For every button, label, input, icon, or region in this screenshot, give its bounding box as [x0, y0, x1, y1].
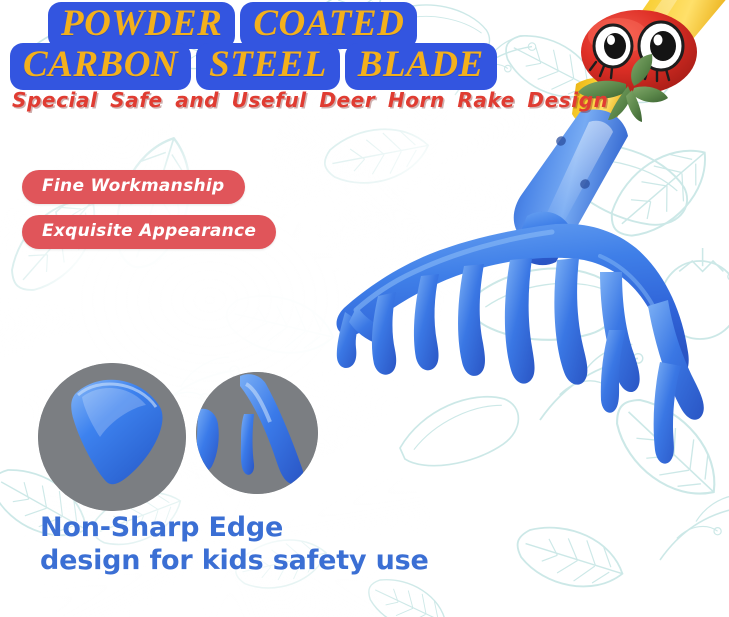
safety-caption: Non-Sharp Edge design for kids safety us… [40, 512, 429, 578]
promo-banner: POWDER COATED CARBON STEEL BLADE Special… [0, 0, 729, 617]
safety-caption-line-2: design for kids safety use [40, 545, 429, 578]
headline-word: BLADE [345, 43, 497, 90]
rake-tine [505, 258, 535, 384]
rake-tine [458, 264, 485, 376]
headline-word: POWDER [48, 2, 235, 49]
rake-tine [554, 258, 587, 385]
rake-grip [514, 109, 628, 247]
headline-word: CARBON [10, 43, 191, 90]
rake-tine [337, 306, 392, 368]
forked-tine-closeup [196, 372, 318, 494]
rake-head [337, 212, 704, 464]
rake-tine [600, 272, 640, 413]
headline-line-1: POWDER COATED [0, 2, 560, 49]
headline: POWDER COATED CARBON STEEL BLADE [0, 0, 560, 90]
blade-tip-closeup [38, 363, 186, 511]
rake-tine [648, 300, 704, 464]
headline-line-2: CARBON STEEL BLADE [0, 43, 560, 90]
subtitle: Special Safe and Useful Deer Horn Rake D… [12, 88, 609, 112]
safety-caption-line-1: Non-Sharp Edge [40, 512, 429, 545]
feature-pill-fine-workmanship: Fine Workmanship [22, 170, 245, 204]
headline-word: STEEL [196, 43, 340, 90]
headline-word: COATED [240, 2, 417, 49]
rake-tine [372, 292, 396, 375]
rake-tine [414, 274, 439, 370]
feature-pill-exquisite-appearance: Exquisite Appearance [22, 215, 276, 249]
